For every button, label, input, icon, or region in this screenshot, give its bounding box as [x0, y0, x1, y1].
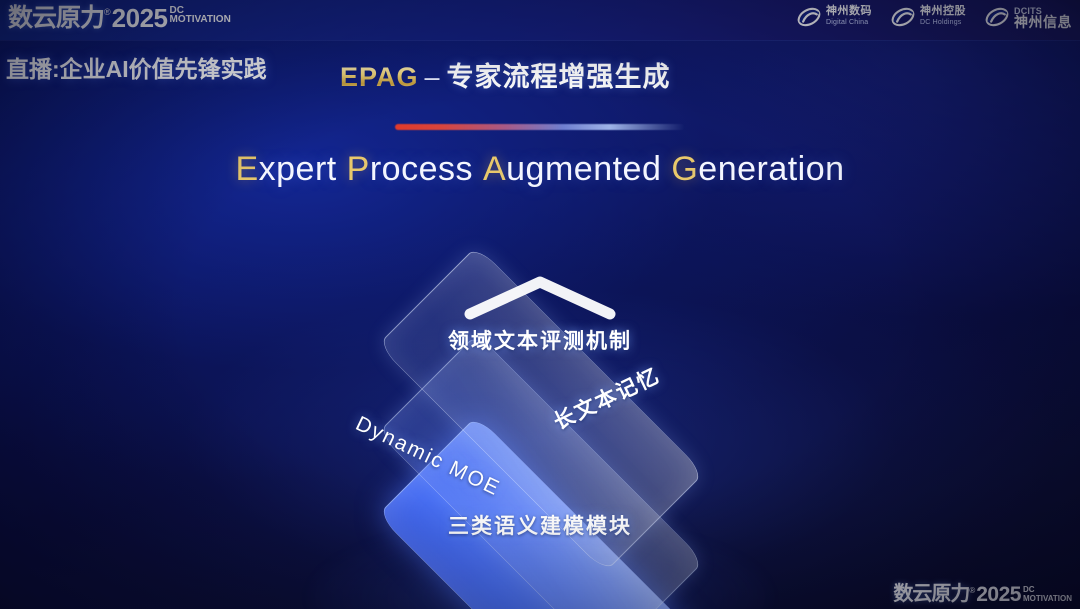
subtitle-word-augmented: ugmented — [506, 150, 661, 188]
swirl-icon — [796, 4, 822, 30]
logo-dc-holdings-en: DC Holdings — [920, 17, 966, 28]
watermark-year: 2025 — [976, 584, 1021, 605]
event-logo-dc: DC MOTIVATION — [170, 6, 231, 24]
watermark-dc-line1: DC — [1023, 585, 1072, 594]
stack-layer-top-label: 领域文本评测机制 — [300, 325, 780, 355]
watermark-registered-icon: ® — [969, 586, 975, 596]
swirl-icon — [984, 4, 1010, 30]
subtitle-word-process: rocess — [370, 150, 473, 188]
event-logo: 数云原力 ® 2025 DC MOTIVATION — [8, 5, 231, 31]
live-stream-label: 直播:企业AI价值先锋实践 — [6, 50, 267, 84]
subtitle-cap-e: E — [235, 150, 258, 188]
logo-dcits: DCITS 神州信息 — [984, 4, 1072, 30]
accent-divider — [395, 124, 685, 130]
watermark-cn: 数云原力 — [893, 584, 969, 605]
logo-dcits-cn: 神州信息 — [1014, 17, 1072, 28]
page-title-acronym: EPAG — [340, 62, 419, 92]
subtitle-expansion: Expert Process Augmented Generation — [0, 150, 1080, 189]
subtitle-cap-a: A — [483, 150, 506, 188]
event-logo-cn: 数云原力 — [8, 5, 104, 31]
swirl-icon — [890, 4, 916, 30]
page-title-dash: – — [419, 62, 447, 92]
page-title: EPAG–专家流程增强生成 — [340, 55, 671, 94]
stack-layer-bottom-label: 三类语义建模模块 — [300, 510, 780, 540]
event-logo-dc-line2: MOTIVATION — [170, 15, 231, 24]
subtitle-word-generation: eneration — [698, 150, 844, 188]
chevron-up-icon — [460, 272, 620, 322]
corporate-logo-group: 神州数码 Digital China 神州控股 DC Holdings — [796, 4, 1072, 30]
logo-digital-china-en: Digital China — [826, 17, 872, 28]
slide-canvas: 数云原力 ® 2025 DC MOTIVATION 神州数码 Digital C… — [0, 0, 1080, 609]
logo-dc-holdings: 神州控股 DC Holdings — [890, 4, 966, 30]
top-bar: 数云原力 ® 2025 DC MOTIVATION 神州数码 Digital C… — [0, 0, 1080, 40]
bottom-watermark-logo: 数云原力 ® 2025 DC MOTIVATION — [893, 584, 1072, 605]
subtitle-word-expert: xpert — [259, 150, 337, 188]
subtitle-cap-p: P — [347, 150, 370, 188]
logo-dc-holdings-text: 神州控股 DC Holdings — [920, 6, 966, 28]
logo-digital-china-text: 神州数码 Digital China — [826, 6, 872, 28]
event-logo-year: 2025 — [112, 5, 168, 31]
logo-digital-china-cn: 神州数码 — [826, 6, 872, 17]
layered-stack-diagram: 领域文本评测机制 Dynamic MOE 长文本记忆 三类语义建模模块 — [300, 222, 780, 592]
registered-mark-icon: ® — [104, 7, 111, 17]
logo-dc-holdings-cn: 神州控股 — [920, 6, 966, 17]
logo-digital-china: 神州数码 Digital China — [796, 4, 872, 30]
watermark-dc: DC MOTIVATION — [1023, 585, 1072, 603]
subtitle-cap-g: G — [671, 150, 698, 188]
logo-dcits-text: DCITS 神州信息 — [1014, 6, 1072, 28]
page-title-chinese: 专家流程增强生成 — [447, 62, 671, 92]
watermark-dc-line2: MOTIVATION — [1023, 594, 1072, 603]
